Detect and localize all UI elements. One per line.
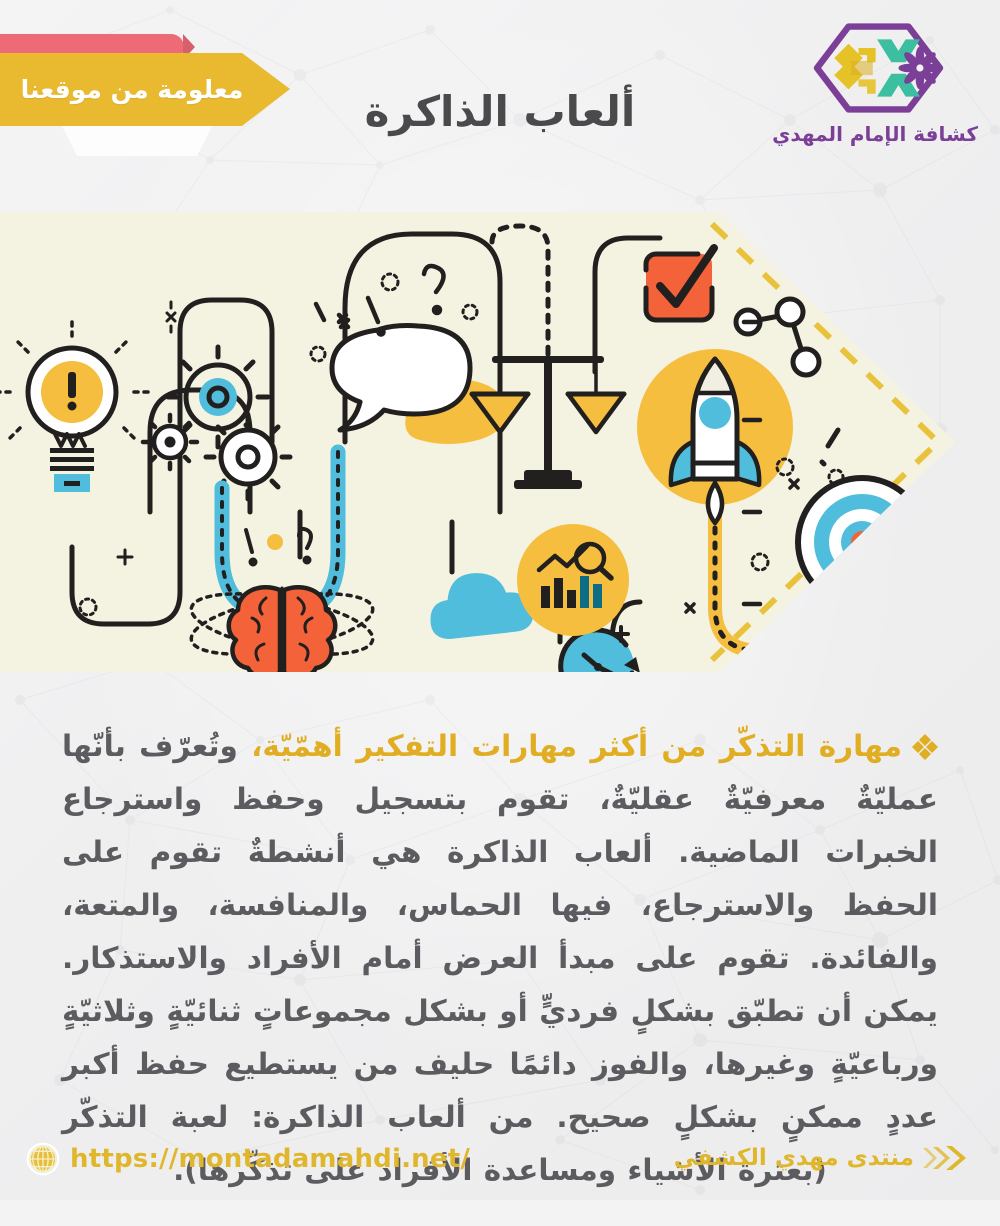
page-footer: https://montadamahdi.net/ منتدى مهدي الك… (0, 1128, 1000, 1200)
page-title: ألعاب الذاكرة (330, 88, 670, 136)
brand-logo-block: كشافة الإمام المهدي (778, 18, 978, 146)
triple-chevron-right-icon (922, 1144, 976, 1172)
site-ribbon: معلومة من موقعنا (0, 34, 330, 164)
ribbon-label: معلومة من موقعنا (21, 75, 260, 104)
page-header: معلومة من موقعنا ألعاب الذاكرة (0, 0, 1000, 212)
brain-icon (229, 587, 336, 672)
website-link[interactable]: https://montadamahdi.net/ (26, 1142, 470, 1176)
forum-name-label: منتدى مهدي الكشفي (674, 1145, 914, 1171)
forum-credit[interactable]: منتدى مهدي الكشفي (674, 1144, 976, 1172)
ribbon-banner: معلومة من موقعنا (0, 53, 290, 126)
illustration-panel (0, 212, 1000, 672)
body-rest-text: وتُعرّف بأنّها عمليّةٌ معرفيّةٌ عقليّةٌ،… (62, 729, 938, 1187)
checkbox-check-icon (646, 248, 714, 320)
brand-name: كشافة الإمام المهدي (778, 122, 978, 146)
hexagon-scout-emblem-icon (806, 18, 951, 118)
ribbon-tail (62, 126, 212, 156)
site-url-label: https://montadamahdi.net/ (70, 1144, 470, 1174)
analytics-chart-icon (517, 524, 629, 636)
quad-diamond-bullet-icon (912, 734, 938, 760)
body-lead-sentence: مهارة التذكّر من أكثر مهارات التفكير أهم… (251, 729, 902, 763)
body-paragraph: مهارة التذكّر من أكثر مهارات التفكير أهم… (62, 720, 938, 1197)
globe-icon (26, 1142, 60, 1176)
